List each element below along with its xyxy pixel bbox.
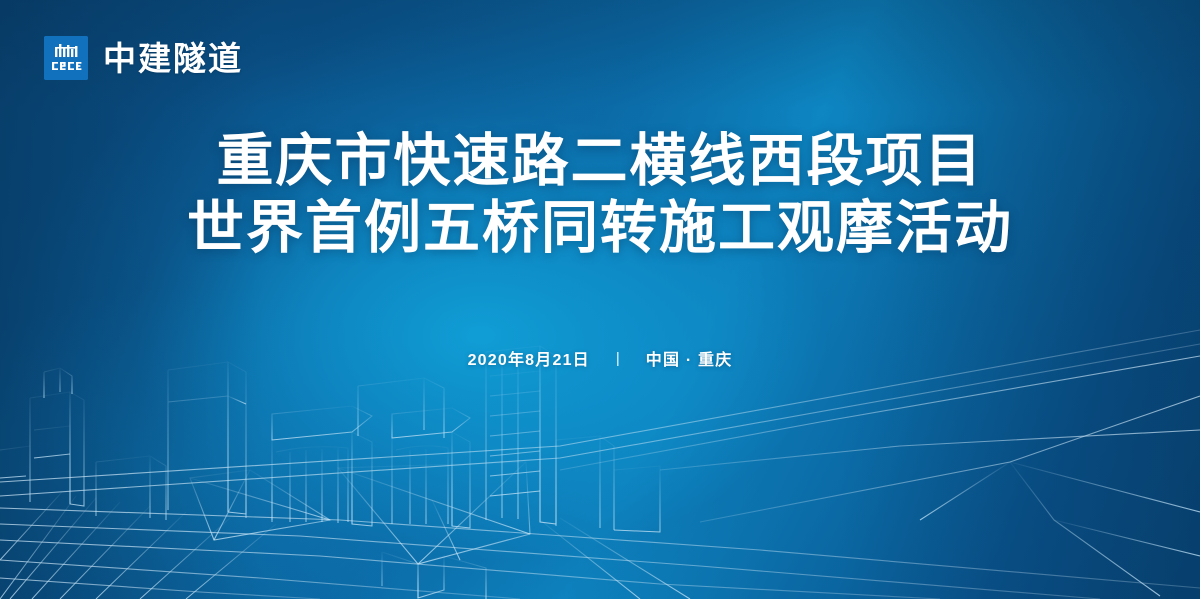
event-meta: 2020年8月21日 | 中国 · 重庆 [0,346,1200,370]
event-date: 2020年8月21日 [468,346,590,370]
brand-lockup: 中建隧道 [44,36,243,80]
page-title: 重庆市快速路二横线西段项目 世界首例五桥同转施工观摩活动 [0,128,1200,263]
event-location: 中国 · 重庆 [646,346,733,370]
cscec-logo-icon [44,36,88,80]
meta-separator: | [616,351,620,366]
title-line-1: 重庆市快速路二横线西段项目 [0,128,1200,195]
background-vignette [0,0,1200,599]
poster-canvas: 中建隧道 重庆市快速路二横线西段项目 世界首例五桥同转施工观摩活动 2020年8… [0,0,1200,599]
brand-name: 中建隧道 [103,42,243,75]
title-line-2: 世界首例五桥同转施工观摩活动 [0,195,1200,262]
